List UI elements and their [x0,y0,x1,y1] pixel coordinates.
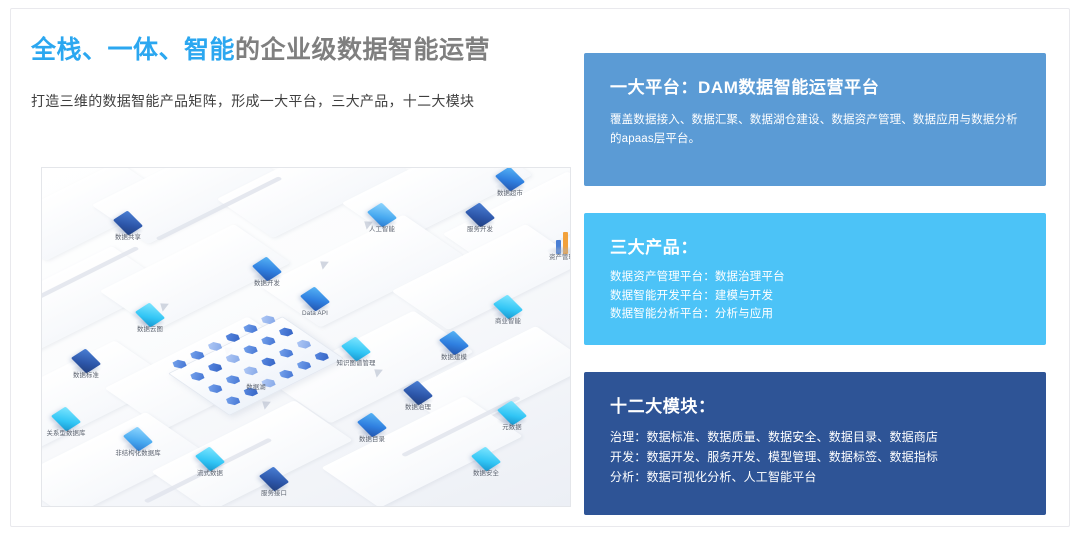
metadata-icon [475,390,549,424]
node-label: 服务开发 [436,228,523,234]
illus-node-share[interactable]: 数据共享 [91,200,165,241]
illus-node-modeling[interactable]: 数据建模 [417,320,491,361]
illus-node-metadata[interactable]: 元数据 [475,390,549,431]
shop-icon [473,167,547,190]
node-label: 数据湖 [212,386,299,392]
node-label: 服务接口 [230,492,317,498]
share-cube-icon [91,200,165,234]
illus-node-unstructured-db[interactable]: 非结构化数据库 [101,416,175,457]
node-label: 数据共享 [84,236,171,242]
illus-node-stream-data[interactable]: 流式数据 [173,436,247,477]
modeling-cone-icon [417,320,491,354]
node-label: 数据目录 [328,438,415,444]
node-label: 数据安全 [442,472,529,478]
module-line: 治理：数据标准、数据质量、数据安全、数据目录、数据商店 [610,428,1020,448]
node-label: 关系型数据库 [41,432,110,438]
illus-node-data-market[interactable]: 数据超市 [473,167,547,197]
node-label: 人工智能 [338,228,425,234]
node-label: 知识图谱管理 [312,362,399,368]
page-title: 全栈、一体、智能的企业级数据智能运营 [31,35,571,65]
node-label: Data API [271,312,358,318]
node-label: 资产管理 [518,256,571,262]
left-column: 全栈、一体、智能的企业级数据智能运营 打造三维的数据智能产品矩阵，形成一大平台，… [31,35,571,505]
node-label: 数据云图 [106,328,193,334]
node-label: 数据标准 [42,374,129,380]
unstructured-db-icon [101,416,175,450]
node-label: 数据建模 [410,356,497,362]
service-interface-icon [237,456,311,490]
panel-one-platform-body: 覆盖数据接入、数据汇聚、数据湖仓建设、数据资产管理、数据应用与数据分析的apaa… [610,111,1020,148]
illus-node-relational-db[interactable]: 关系型数据库 [41,396,103,437]
illustration-stage: 数据共享 数据开发 服务开发 人工智能 数据超市 [42,168,570,506]
panel-twelve-modules[interactable]: 十二大模块： 治理：数据标准、数据质量、数据安全、数据目录、数据商店 开发：数据… [584,372,1046,515]
illus-node-service-interface[interactable]: 服务接口 [237,456,311,497]
product-line: 数据智能分析平台：分析与应用 [610,305,1020,324]
asset-bars-icon [525,220,571,254]
illus-node-catalog[interactable]: 数据目录 [335,402,409,443]
illus-node-standard[interactable]: 数据标准 [49,338,123,379]
illus-node-cloud-map[interactable]: 数据云图 [113,292,187,333]
product-line: 数据智能开发平台：建模与开发 [610,287,1020,306]
develop-diamond-icon [230,246,304,280]
illus-node-security[interactable]: 数据安全 [449,436,523,477]
node-label: 数据超市 [466,192,553,198]
module-line: 分析：数据可视化分析、人工智能平台 [610,468,1020,488]
illus-node-data-api[interactable]: Data API [278,276,352,317]
shield-icon [449,436,523,470]
server-api-icon [278,276,352,310]
relational-db-icon [41,396,103,430]
illus-node-data-lake[interactable]: 数据湖 [219,380,293,391]
panel-one-platform[interactable]: 一大平台：DAM数据智能运营平台 覆盖数据接入、数据汇聚、数据湖仓建设、数据资产… [584,53,1046,186]
slide-canvas: 全栈、一体、智能的企业级数据智能运营 打造三维的数据智能产品矩阵，形成一大平台，… [10,8,1070,527]
cloud-map-icon [113,292,187,326]
knowledge-graph-icon [319,326,393,360]
illus-node-asset-mgmt[interactable]: 资产管理 [525,220,571,261]
module-line: 开发：数据开发、服务开发、模型管理、数据标签、数据指标 [610,448,1020,468]
books-icon [49,338,123,372]
robot-icon [345,192,419,226]
stream-data-icon [173,436,247,470]
page-title-rest: 的企业级数据智能运营 [235,36,490,64]
panel-three-products[interactable]: 三大产品： 数据资产管理平台：数据治理平台 数据智能开发平台：建模与开发 数据智… [584,213,1046,345]
panel-twelve-modules-title: 十二大模块： [610,392,1020,417]
right-panels: 一大平台：DAM数据智能运营平台 覆盖数据接入、数据汇聚、数据湖仓建设、数据资产… [584,53,1046,515]
page-subtitle: 打造三维的数据智能产品矩阵，形成一大平台，三大产品，十二大模块 [31,91,571,111]
illus-node-service-dev[interactable]: 服务开发 [443,192,517,233]
panel-one-platform-title: 一大平台：DAM数据智能运营平台 [610,73,1020,98]
illus-node-knowledge-graph[interactable]: 知识图谱管理 [319,326,393,367]
bi-chart-icon [471,284,545,318]
product-line: 数据资产管理平台：数据治理平台 [610,268,1020,287]
governance-hex-icon [381,370,455,404]
node-label: 非结构化数据库 [94,452,181,458]
catalog-icon [335,402,409,436]
illus-node-ai[interactable]: 人工智能 [345,192,419,233]
panel-three-products-title: 三大产品： [610,233,1020,258]
isometric-illustration: 数据共享 数据开发 服务开发 人工智能 数据超市 [41,167,571,507]
page-title-accent: 全栈、一体、智能 [31,36,235,64]
node-label: 元数据 [468,426,555,432]
